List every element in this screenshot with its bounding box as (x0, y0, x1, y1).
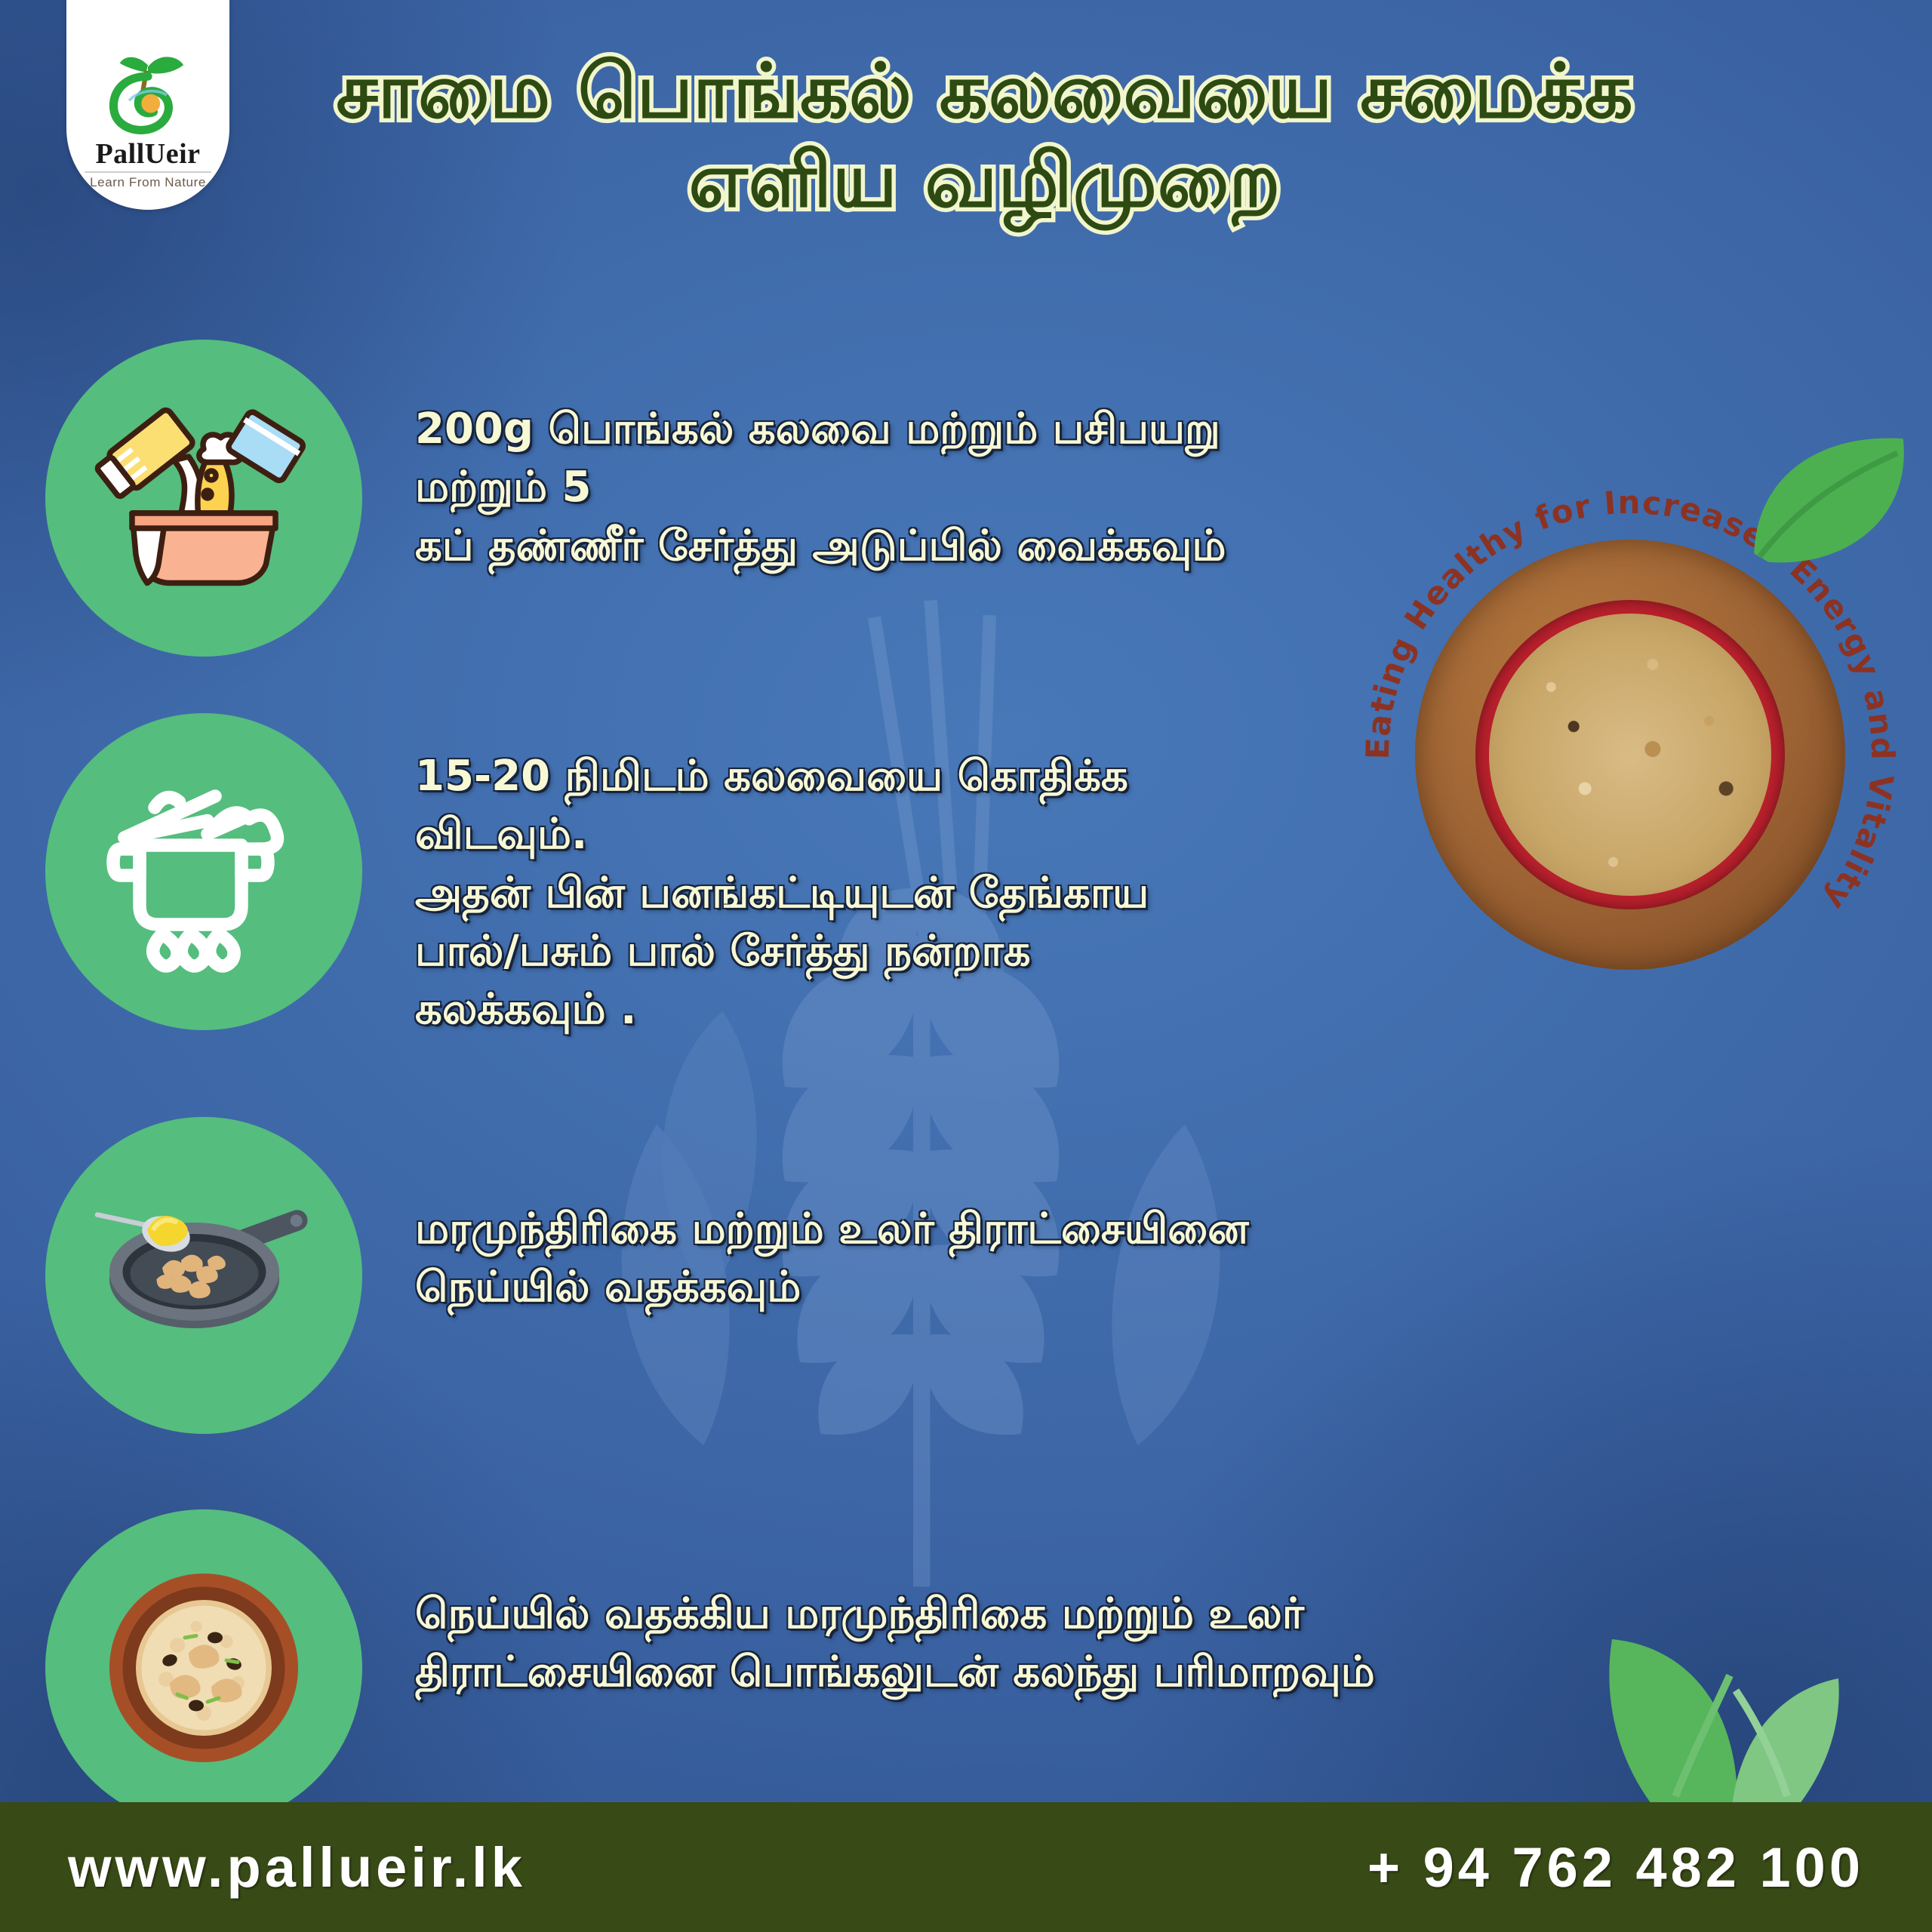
frying-pan-cashews-ghee-icon (91, 1162, 317, 1389)
step-2-text: 15-20 நிமிடம் கலவையை கொதிக்க விடவும். அத… (415, 747, 1306, 1038)
step-1-text: 200g பொங்கல் கலவை மற்றும் பசிபயறு மற்றும… (415, 400, 1306, 575)
step-3-text: மரமுந்திரிகை மற்றும் உலர் திராட்சையினை ந… (415, 1200, 1472, 1317)
footer-website[interactable]: www.pallueir.lk (68, 1835, 526, 1900)
footer-bar: www.pallueir.lk + 94 762 482 100 (0, 1802, 1932, 1932)
step-2-icon-circle (45, 713, 362, 1030)
step-4-text: நெய்யில் வதக்கிய மரமுந்திரிகை மற்றும் உல… (415, 1585, 1592, 1702)
step-3-icon-circle (45, 1117, 362, 1434)
logo-divider (85, 171, 211, 173)
title-line-2: எளிய வழிமுறை (226, 136, 1743, 225)
step-4-icon-circle (45, 1509, 362, 1826)
bowl-of-pongal-icon (91, 1555, 317, 1781)
title-line-1: சாமை பொங்கல் கலவையை சமைக்க (226, 47, 1743, 136)
bowl-rim (1475, 600, 1785, 909)
sprout-spiral-logo-icon (101, 45, 195, 138)
mixing-bowl-ingredients-icon (91, 385, 317, 611)
wheat-watermark-icon (543, 558, 1298, 1615)
leaf-icon (1742, 430, 1915, 574)
bowl-of-pongal-photo (1415, 540, 1845, 970)
footer-phone[interactable]: + 94 762 482 100 (1367, 1835, 1864, 1900)
pongal-food (1489, 614, 1770, 895)
page-title: சாமை பொங்கல் கலவையை சமைக்க எளிய வழிமுறை (226, 47, 1743, 225)
brand-tagline: Learn From Nature (90, 175, 206, 190)
hero-badge: Eating Healthy for Increased Energy and … (1343, 468, 1917, 1041)
brand-name: PallUeir (95, 140, 200, 168)
infographic-poster: PallUeir Learn From Nature சாமை பொங்கல் … (0, 0, 1932, 1932)
brand-logo-badge[interactable]: PallUeir Learn From Nature (66, 0, 229, 210)
step-1-icon-circle (45, 340, 362, 657)
boiling-pot-icon (91, 758, 317, 985)
